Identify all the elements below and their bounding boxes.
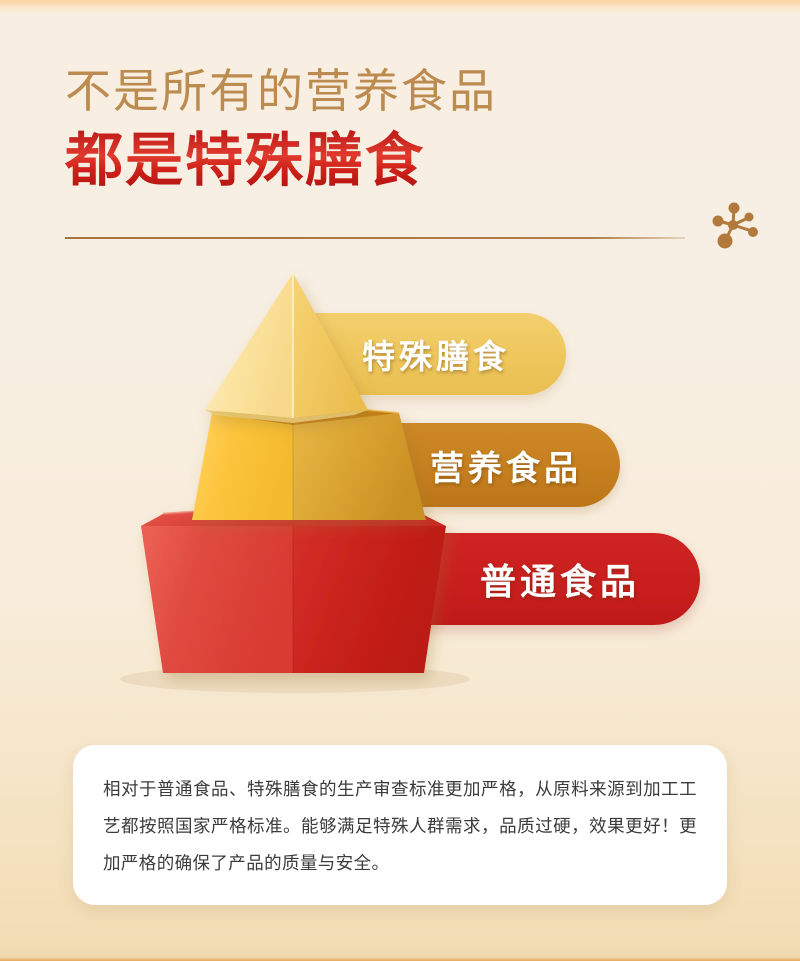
pill-nutrition-food[interactable]: 营养食品	[300, 423, 620, 507]
poster-page: 不是所有的营养食品 都是特殊膳食 特殊膳食 营养食品	[0, 0, 800, 961]
pill-label-ordinary-food: 普通食品	[480, 553, 640, 605]
top-accent-stripe	[0, 0, 800, 6]
page-title: 都是特殊膳食	[65, 126, 725, 196]
pill-ordinary-food[interactable]: 普通食品	[300, 533, 700, 625]
pill-label-nutrition-food: 营养食品	[430, 441, 582, 490]
header-divider-rule	[65, 237, 685, 239]
description-card: 相对于普通食品、特殊膳食的生产审查标准更加严格，从原料来源到加工工艺都按照国家严…	[73, 745, 727, 905]
molecule-icon	[706, 196, 762, 252]
bottom-accent-stripe	[0, 957, 800, 961]
pyramid-ground-shadow	[120, 665, 470, 693]
page-subtitle: 不是所有的营养食品	[65, 62, 725, 120]
pill-special-diet[interactable]: 特殊膳食	[300, 313, 566, 395]
pill-label-special-diet: 特殊膳食	[362, 330, 510, 378]
description-text: 相对于普通食品、特殊膳食的生产审查标准更加严格，从原料来源到加工工艺都按照国家严…	[103, 771, 697, 882]
header-block: 不是所有的营养食品 都是特殊膳食	[65, 62, 725, 196]
pyramid-diagram: 特殊膳食 营养食品 普通食品	[0, 255, 800, 715]
